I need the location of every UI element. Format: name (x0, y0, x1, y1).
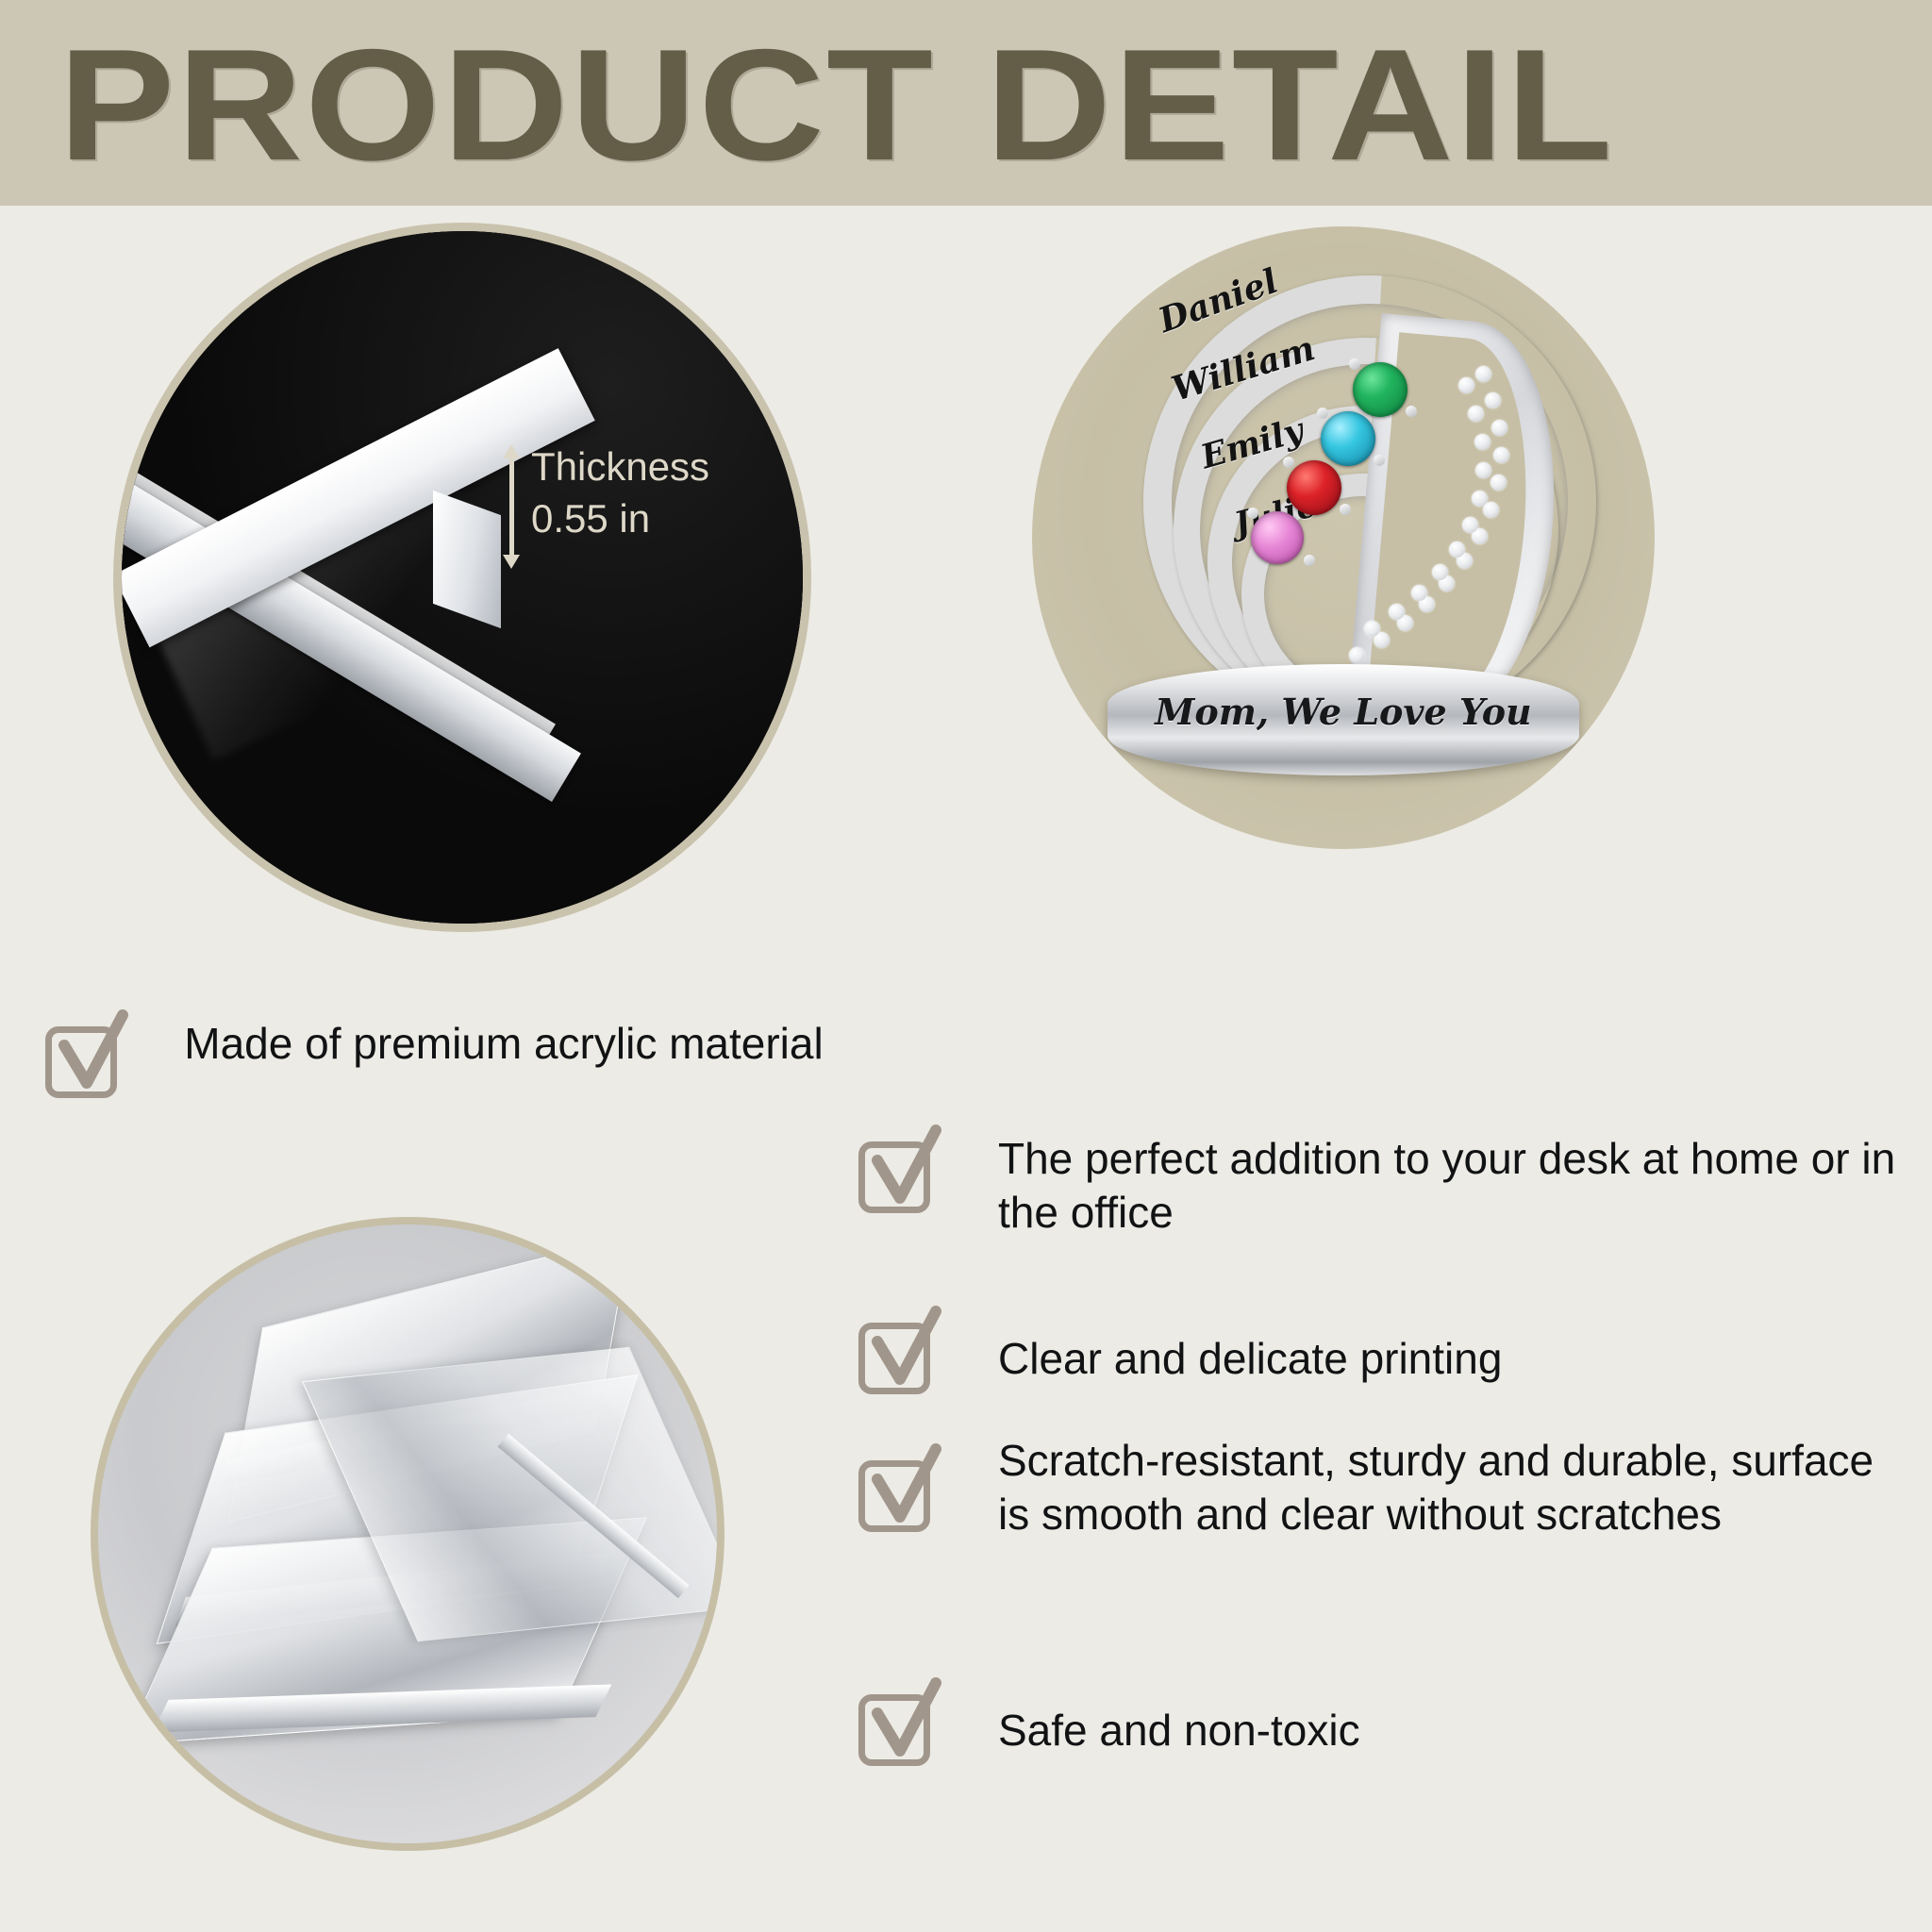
photo-acrylic-sheets (91, 1217, 724, 1851)
checkbox-icon (858, 1689, 940, 1770)
checkbox-icon (858, 1136, 940, 1217)
checkbox-icon (858, 1455, 940, 1536)
product-detail-infographic: PRODUCT DETAIL Thickness 0.55 in (0, 0, 1932, 1932)
feature-label: Made of premium acrylic material (155, 1017, 853, 1071)
acrylic-side-edge (433, 491, 501, 628)
birthstone-pink (1251, 511, 1304, 564)
ring-base-engraving: Mom, We Love You (1108, 691, 1579, 733)
checkmark-icon (872, 1309, 941, 1394)
checkmark-icon (872, 1681, 941, 1766)
checkmark-icon (58, 1013, 128, 1098)
checkmark-icon (872, 1128, 941, 1213)
thickness-line-1: Thickness (531, 441, 795, 492)
birthstone-emerald-green (1353, 362, 1407, 417)
ring-stage: Daniel William Emily Julie Mom, We Love … (1032, 226, 1655, 849)
checkmark-icon (872, 1447, 941, 1532)
feature-label: The perfect addition to your desk at hom… (998, 1132, 1904, 1240)
checkbox-icon (45, 1021, 126, 1102)
thickness-line-2: 0.55 in (531, 492, 795, 544)
header-band: PRODUCT DETAIL (0, 0, 1932, 206)
thickness-arrow-icon (501, 444, 522, 569)
photo-personalized-heart-ring: Daniel William Emily Julie Mom, We Love … (1032, 226, 1655, 849)
page-title: PRODUCT DETAIL (58, 15, 1932, 194)
birthstone-blue-zircon (1321, 411, 1375, 466)
thickness-annotation: Thickness 0.55 in (531, 441, 795, 544)
feature-label: Scratch-resistant, sturdy and durable, s… (998, 1434, 1904, 1541)
checkbox-icon (858, 1317, 940, 1398)
feature-label: Clear and delicate printing (998, 1332, 1904, 1386)
feature-label: Safe and non-toxic (998, 1704, 1904, 1757)
photo-acrylic-edge-closeup: Thickness 0.55 in (113, 223, 811, 932)
birthstone-ruby-red (1287, 460, 1341, 515)
